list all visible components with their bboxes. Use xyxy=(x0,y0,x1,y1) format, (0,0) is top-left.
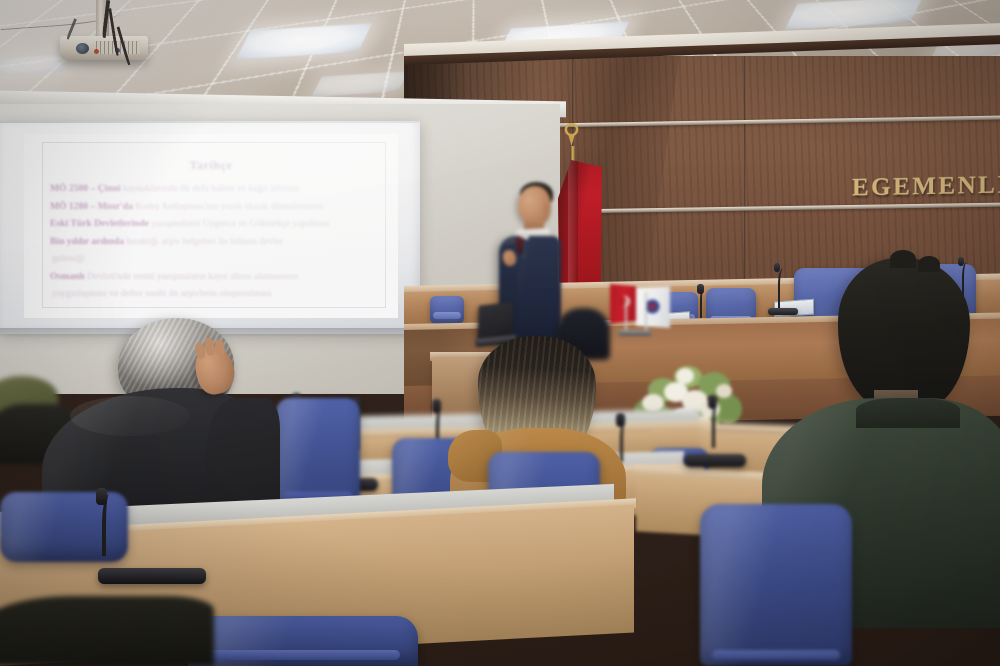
projector-indicator-dot xyxy=(94,49,99,54)
audience-chair xyxy=(700,504,852,666)
chair-seat-ridge xyxy=(206,650,399,660)
foreground-person-silhouette xyxy=(0,596,214,666)
hair-spike xyxy=(918,256,940,272)
council-chamber-photo: EGEMENLİK KAY Tarihçe MÖ 2500 – Çinni ka… xyxy=(0,0,1000,666)
hair-spike xyxy=(890,250,916,268)
crescent-finial-icon xyxy=(561,123,582,146)
slide-line: MÖ 1280 – Mısır'da Kadeş Antlaşması'nın … xyxy=(50,198,376,216)
man-right-hair xyxy=(838,258,970,410)
microphone-head-icon xyxy=(774,263,780,272)
man-right-collar xyxy=(856,398,960,428)
presenter-ear xyxy=(543,203,551,214)
slide-line-lead: MÖ 2500 – Çinni xyxy=(50,183,121,194)
flag-stick xyxy=(645,292,647,332)
microphone-head-icon xyxy=(708,395,717,409)
slide-body: MÖ 2500 – Çinni kaynaklarında ilk defa k… xyxy=(50,180,376,303)
slide-line: Bin yıldır ardında bıraktığı arşiv belge… xyxy=(50,233,376,251)
gooseneck-microphone xyxy=(778,268,792,310)
slide-line-rest: Devleti'nde resmi yazışmaların kayıt alt… xyxy=(85,271,299,282)
microphone-base xyxy=(684,454,746,467)
shoulder-highlight xyxy=(70,396,190,436)
institution-emblem-icon xyxy=(645,299,660,314)
slide-line-rest: bıraktığı arşiv belgeleri ile bilinen de… xyxy=(124,236,283,247)
microphone-head-icon xyxy=(616,413,625,427)
slide-surface: Tarihçe MÖ 2500 – Çinni kaynaklarında il… xyxy=(24,134,398,318)
turkish-desk-flag xyxy=(610,284,636,324)
slide-title: Tarihçe xyxy=(24,158,398,173)
projector-lens-icon xyxy=(76,43,89,54)
audience-chair xyxy=(188,616,418,666)
slide-line-rest: yaygınlaşması ve defter usulü ile arşivl… xyxy=(52,288,272,299)
slide-line-rest: geleneği xyxy=(52,253,85,264)
slide-line: Osmanlı Devleti'nde resmi yazışmaların k… xyxy=(50,268,376,286)
flag-stick xyxy=(625,300,627,332)
slide-line-lead: MÖ 1280 – Mısır'da xyxy=(50,201,133,212)
slide-line-rest: Kadeş Antlaşması'nın yazılı olarak düzen… xyxy=(133,201,324,212)
microphone-base xyxy=(98,568,206,584)
slide-line-lead: Bin yıldır ardında xyxy=(50,236,124,247)
slide-line-rest: yazışmaların Uygurca ve Göktürkçe yapılm… xyxy=(149,218,330,229)
wall-motto-text: EGEMENLİK KAY xyxy=(852,170,1000,203)
slide-line: Eski Türk Devletlerinde yazışmaların Uyg… xyxy=(50,215,376,233)
desk-flag-base xyxy=(618,330,652,336)
slide-line-rest: kaynaklarında ilk defa kalem ve kağıt iz… xyxy=(121,183,299,194)
slide-line-lead: Osmanlı xyxy=(50,271,85,282)
institution-desk-flag xyxy=(636,286,670,328)
slide-line-lead: Eski Türk Devletlerinde xyxy=(50,218,149,229)
projection-screen: Tarihçe MÖ 2500 – Çinni kaynaklarında il… xyxy=(0,121,420,334)
slide-line: geleneği xyxy=(50,250,376,268)
microphone-head-icon xyxy=(958,257,964,266)
microphone-head-icon xyxy=(96,488,107,505)
slide-line: MÖ 2500 – Çinni kaynaklarında ilk defa k… xyxy=(50,180,376,198)
dais-chair xyxy=(430,296,464,324)
ceiling-projector xyxy=(60,36,148,60)
chair-seat-ridge xyxy=(712,650,840,660)
microphone-head-icon xyxy=(432,399,441,413)
microphone-head-icon xyxy=(697,284,704,294)
microphone-base xyxy=(768,308,798,315)
gooseneck-microphone xyxy=(962,262,974,300)
slide-line: yaygınlaşması ve defter usulü ile arşivl… xyxy=(50,285,376,303)
